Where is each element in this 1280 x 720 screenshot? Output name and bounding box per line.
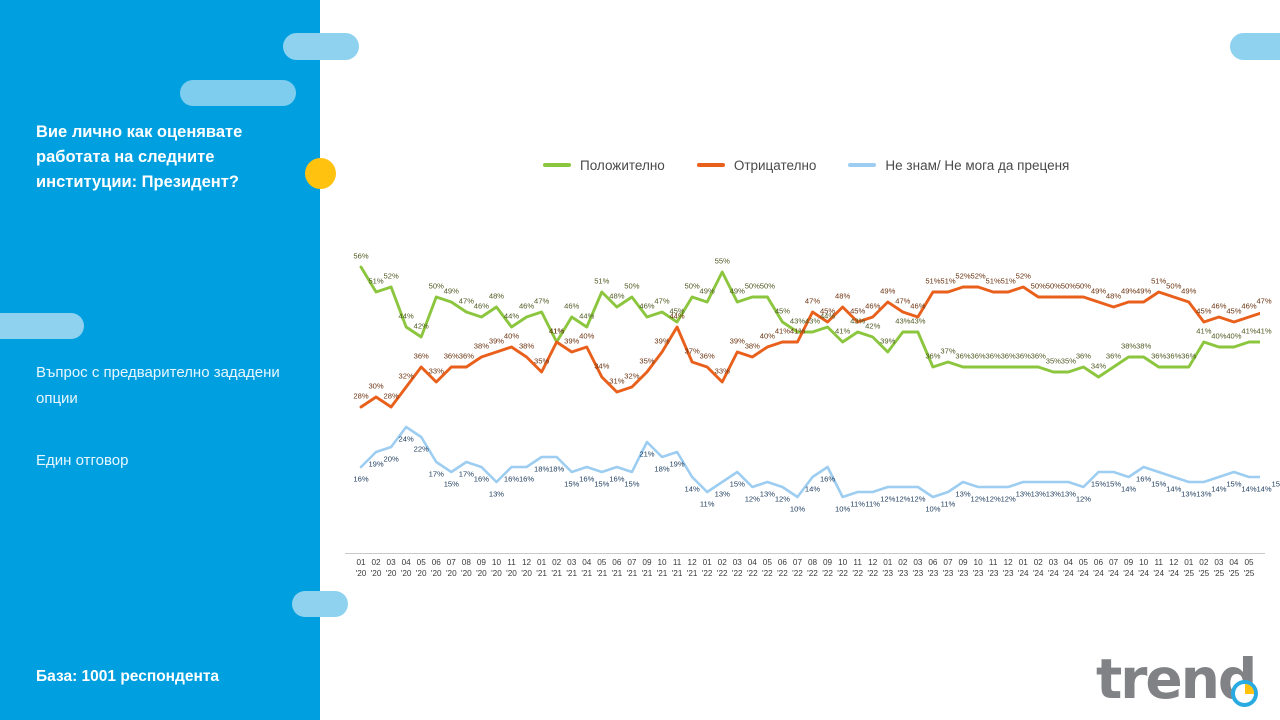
data-point-label: 21% bbox=[639, 450, 654, 459]
x-tick-label: 01'25 bbox=[1181, 557, 1197, 579]
data-point-label: 38% bbox=[745, 342, 760, 351]
legend-swatch-icon bbox=[697, 163, 725, 167]
x-tick-label: 07'21 bbox=[624, 557, 640, 579]
data-point-label: 50% bbox=[624, 282, 639, 291]
data-point-label: 18% bbox=[534, 465, 549, 474]
data-point-label: 51% bbox=[940, 277, 955, 286]
data-point-label: 44% bbox=[504, 312, 519, 321]
data-point-label: 10% bbox=[925, 505, 940, 514]
data-point-label: 36% bbox=[925, 352, 940, 361]
decorative-pill-right bbox=[1230, 33, 1280, 60]
data-point-label: 39% bbox=[880, 337, 895, 346]
x-tick-label: 02'25 bbox=[1196, 557, 1212, 579]
data-point-label: 38% bbox=[474, 342, 489, 351]
data-point-label: 36% bbox=[1001, 352, 1016, 361]
data-point-label: 12% bbox=[775, 495, 790, 504]
x-tick-label: 05'24 bbox=[1075, 557, 1091, 579]
data-point-label: 49% bbox=[444, 287, 459, 296]
data-point-label: 38% bbox=[519, 342, 534, 351]
data-point-label: 48% bbox=[489, 292, 504, 301]
data-point-label: 51% bbox=[594, 277, 609, 286]
data-point-label: 41% bbox=[1256, 327, 1271, 336]
data-point-label: 15% bbox=[624, 480, 639, 489]
data-point-label: 15% bbox=[1271, 480, 1280, 489]
data-point-label: 15% bbox=[1151, 480, 1166, 489]
data-point-label: 36% bbox=[414, 352, 429, 361]
data-point-label: 50% bbox=[760, 282, 775, 291]
data-point-label: 45% bbox=[850, 307, 865, 316]
data-point-label: 19% bbox=[669, 460, 684, 469]
x-tick-label: 05'25 bbox=[1241, 557, 1257, 579]
data-point-label: 49% bbox=[730, 287, 745, 296]
x-tick-label: 05'22 bbox=[759, 557, 775, 579]
data-point-label: 15% bbox=[594, 480, 609, 489]
data-point-label: 40% bbox=[760, 332, 775, 341]
data-point-label: 36% bbox=[1151, 352, 1166, 361]
x-tick-label: 10'21 bbox=[654, 557, 670, 579]
data-point-label: 31% bbox=[609, 377, 624, 386]
data-point-label: 40% bbox=[1211, 332, 1226, 341]
data-point-label: 39% bbox=[730, 337, 745, 346]
x-tick-label: 07'24 bbox=[1106, 557, 1122, 579]
x-tick-label: 12'23 bbox=[1000, 557, 1016, 579]
data-point-label: 38% bbox=[1121, 342, 1136, 351]
question-type-note: Въпрос с предварително зададени опции bbox=[36, 360, 304, 412]
data-point-label: 47% bbox=[805, 297, 820, 306]
legend-item-3[interactable]: Не знам/ Не мога да преценя bbox=[848, 158, 1069, 173]
x-tick-label: 01'24 bbox=[1015, 557, 1031, 579]
data-point-label: 44% bbox=[579, 312, 594, 321]
x-tick-label: 06'22 bbox=[774, 557, 790, 579]
data-point-label: 40% bbox=[504, 332, 519, 341]
x-tick-label: 04'21 bbox=[579, 557, 595, 579]
data-point-label: 36% bbox=[1181, 352, 1196, 361]
x-tick-label: 03'23 bbox=[910, 557, 926, 579]
data-point-label: 46% bbox=[564, 302, 579, 311]
data-point-label: 13% bbox=[1061, 490, 1076, 499]
data-point-label: 13% bbox=[1181, 490, 1196, 499]
decorative-dot-icon bbox=[305, 158, 336, 189]
data-point-label: 34% bbox=[1091, 362, 1106, 371]
data-point-label: 10% bbox=[790, 505, 805, 514]
data-point-label: 37% bbox=[940, 347, 955, 356]
data-point-label: 11% bbox=[941, 500, 956, 509]
data-point-label: 41% bbox=[775, 327, 790, 336]
data-point-label: 52% bbox=[955, 272, 970, 281]
legend-swatch-icon bbox=[543, 163, 571, 167]
data-point-label: 28% bbox=[353, 392, 368, 401]
trend-logo: trend bbox=[1096, 650, 1266, 712]
data-point-label: 20% bbox=[383, 455, 398, 464]
x-tick-label: 09'21 bbox=[639, 557, 655, 579]
data-point-label: 34% bbox=[594, 362, 609, 371]
data-point-label: 12% bbox=[1076, 495, 1091, 504]
data-point-label: 17% bbox=[429, 470, 444, 479]
data-point-label: 40% bbox=[579, 332, 594, 341]
data-point-label: 46% bbox=[910, 302, 925, 311]
x-tick-label: 12'22 bbox=[865, 557, 881, 579]
data-point-label: 44% bbox=[399, 312, 414, 321]
decorative-pill-outer bbox=[283, 33, 359, 60]
data-point-label: 36% bbox=[700, 352, 715, 361]
x-tick-label: 09'22 bbox=[820, 557, 836, 579]
x-tick-label: 02'20 bbox=[368, 557, 384, 579]
data-point-label: 19% bbox=[368, 460, 383, 469]
legend-label: Положително bbox=[580, 158, 665, 173]
data-point-label: 12% bbox=[910, 495, 925, 504]
data-point-label: 51% bbox=[925, 277, 940, 286]
data-point-label: 46% bbox=[865, 302, 880, 311]
data-point-label: 36% bbox=[1166, 352, 1181, 361]
answer-type-note: Един отговор bbox=[36, 448, 304, 474]
data-point-label: 14% bbox=[1256, 485, 1271, 494]
data-point-label: 45% bbox=[1196, 307, 1211, 316]
x-tick-label: 07'23 bbox=[940, 557, 956, 579]
chart-legend: ПоложителноОтрицателноНе знам/ Не мога д… bbox=[543, 155, 1101, 175]
x-tick-label: 06'21 bbox=[609, 557, 625, 579]
data-point-label: 16% bbox=[353, 475, 368, 484]
data-point-label: 48% bbox=[1106, 292, 1121, 301]
data-point-label: 35% bbox=[1046, 357, 1061, 366]
data-point-label: 14% bbox=[1211, 485, 1226, 494]
data-point-label: 51% bbox=[986, 277, 1001, 286]
data-point-label: 39% bbox=[489, 337, 504, 346]
legend-label: Не знам/ Не мога да преценя bbox=[885, 158, 1069, 173]
data-point-label: 16% bbox=[474, 475, 489, 484]
data-point-label: 36% bbox=[955, 352, 970, 361]
x-tick-label: 10'20 bbox=[488, 557, 504, 579]
chart-svg bbox=[345, 200, 1260, 555]
data-point-label: 15% bbox=[1106, 480, 1121, 489]
data-point-label: 18% bbox=[549, 465, 564, 474]
data-point-label: 49% bbox=[1091, 287, 1106, 296]
data-point-label: 46% bbox=[1211, 302, 1226, 311]
x-tick-label: 11'22 bbox=[850, 557, 866, 579]
data-point-label: 16% bbox=[820, 475, 835, 484]
data-point-label: 50% bbox=[685, 282, 700, 291]
x-tick-label: 11'21 bbox=[669, 557, 685, 579]
data-point-label: 36% bbox=[1016, 352, 1031, 361]
data-point-label: 24% bbox=[399, 435, 414, 444]
data-point-label: 12% bbox=[880, 495, 895, 504]
data-point-label: 11% bbox=[700, 500, 715, 509]
data-point-label: 43% bbox=[805, 317, 820, 326]
data-point-label: 41% bbox=[835, 327, 850, 336]
data-point-label: 52% bbox=[970, 272, 985, 281]
x-tick-label: 08'22 bbox=[805, 557, 821, 579]
data-point-label: 16% bbox=[609, 475, 624, 484]
x-tick-label: 04'24 bbox=[1060, 557, 1076, 579]
data-point-label: 41% bbox=[1196, 327, 1211, 336]
data-point-label: 40% bbox=[1226, 332, 1241, 341]
x-tick-label: 02'24 bbox=[1030, 557, 1046, 579]
data-point-label: 46% bbox=[639, 302, 654, 311]
data-point-label: 44% bbox=[669, 312, 684, 321]
data-point-label: 36% bbox=[1106, 352, 1121, 361]
data-point-label: 13% bbox=[1016, 490, 1031, 499]
x-tick-label: 05'21 bbox=[594, 557, 610, 579]
x-tick-label: 03'21 bbox=[564, 557, 580, 579]
data-point-label: 56% bbox=[353, 252, 368, 261]
data-point-label: 50% bbox=[745, 282, 760, 291]
x-tick-label: 10'24 bbox=[1136, 557, 1152, 579]
data-point-label: 46% bbox=[519, 302, 534, 311]
x-tick-label: 08'20 bbox=[458, 557, 474, 579]
data-point-label: 42% bbox=[865, 322, 880, 331]
data-point-label: 51% bbox=[1001, 277, 1016, 286]
x-tick-label: 11'24 bbox=[1151, 557, 1167, 579]
data-point-label: 11% bbox=[865, 500, 880, 509]
data-point-label: 35% bbox=[534, 357, 549, 366]
data-point-label: 36% bbox=[970, 352, 985, 361]
x-tick-label: 01'23 bbox=[880, 557, 896, 579]
decorative-pill-bottom bbox=[292, 591, 348, 617]
data-point-label: 11% bbox=[850, 500, 865, 509]
data-point-label: 47% bbox=[534, 297, 549, 306]
data-point-label: 52% bbox=[1016, 272, 1031, 281]
data-point-label: 13% bbox=[1196, 490, 1211, 499]
data-point-label: 48% bbox=[609, 292, 624, 301]
data-point-label: 14% bbox=[1166, 485, 1181, 494]
x-tick-label: 11'20 bbox=[504, 557, 520, 579]
data-point-label: 15% bbox=[564, 480, 579, 489]
data-point-label: 46% bbox=[1241, 302, 1256, 311]
data-point-label: 14% bbox=[1121, 485, 1136, 494]
data-point-label: 43% bbox=[910, 317, 925, 326]
legend-item-2[interactable]: Отрицателно bbox=[697, 158, 817, 173]
data-point-label: 43% bbox=[790, 317, 805, 326]
data-point-label: 37% bbox=[685, 347, 700, 356]
data-point-label: 18% bbox=[654, 465, 669, 474]
data-point-label: 35% bbox=[1061, 357, 1076, 366]
x-tick-label: 07'20 bbox=[443, 557, 459, 579]
data-point-label: 51% bbox=[1151, 277, 1166, 286]
x-tick-label: 06'24 bbox=[1090, 557, 1106, 579]
data-point-label: 32% bbox=[624, 372, 639, 381]
data-point-label: 55% bbox=[715, 257, 730, 266]
data-point-label: 28% bbox=[383, 392, 398, 401]
x-tick-label: 07'22 bbox=[789, 557, 805, 579]
x-tick-label: 12'20 bbox=[519, 557, 535, 579]
data-point-label: 41% bbox=[1241, 327, 1256, 336]
data-point-label: 49% bbox=[700, 287, 715, 296]
x-tick-label: 06'20 bbox=[428, 557, 444, 579]
x-tick-label: 03'25 bbox=[1211, 557, 1227, 579]
data-point-label: 36% bbox=[444, 352, 459, 361]
data-point-label: 49% bbox=[1121, 287, 1136, 296]
data-point-label: 12% bbox=[986, 495, 1001, 504]
x-tick-label: 03'22 bbox=[729, 557, 745, 579]
x-tick-label: 04'22 bbox=[744, 557, 760, 579]
decorative-pill-top bbox=[180, 80, 296, 106]
x-axis-line bbox=[345, 553, 1265, 554]
data-point-label: 45% bbox=[775, 307, 790, 316]
x-tick-label: 05'20 bbox=[413, 557, 429, 579]
data-point-label: 50% bbox=[1076, 282, 1091, 291]
data-point-label: 47% bbox=[1256, 297, 1271, 306]
data-point-label: 12% bbox=[1001, 495, 1016, 504]
data-point-label: 15% bbox=[444, 480, 459, 489]
x-axis-tick-labels: 01'2002'2003'2004'2005'2006'2007'2008'20… bbox=[345, 557, 1265, 583]
data-point-label: 49% bbox=[880, 287, 895, 296]
decorative-pill-left bbox=[0, 313, 84, 339]
data-point-label: 13% bbox=[760, 490, 775, 499]
data-point-label: 35% bbox=[639, 357, 654, 366]
data-point-label: 33% bbox=[429, 367, 444, 376]
data-point-label: 51% bbox=[368, 277, 383, 286]
data-point-label: 22% bbox=[414, 445, 429, 454]
x-tick-label: 02'22 bbox=[714, 557, 730, 579]
data-point-label: 43% bbox=[895, 317, 910, 326]
data-point-label: 50% bbox=[1046, 282, 1061, 291]
data-point-label: 16% bbox=[1136, 475, 1151, 484]
data-point-label: 50% bbox=[1031, 282, 1046, 291]
data-point-label: 12% bbox=[970, 495, 985, 504]
data-point-label: 41% bbox=[549, 327, 564, 336]
data-point-label: 10% bbox=[835, 505, 850, 514]
data-point-label: 12% bbox=[745, 495, 760, 504]
data-point-label: 50% bbox=[429, 282, 444, 291]
x-tick-label: 12'24 bbox=[1166, 557, 1182, 579]
x-tick-label: 09'24 bbox=[1121, 557, 1137, 579]
data-point-label: 33% bbox=[715, 367, 730, 376]
data-point-label: 47% bbox=[895, 297, 910, 306]
data-point-label: 46% bbox=[474, 302, 489, 311]
data-point-label: 32% bbox=[399, 372, 414, 381]
data-point-label: 30% bbox=[368, 382, 383, 391]
data-point-label: 16% bbox=[579, 475, 594, 484]
data-point-label: 38% bbox=[1136, 342, 1151, 351]
data-point-label: 14% bbox=[685, 485, 700, 494]
data-point-label: 41% bbox=[790, 327, 805, 336]
data-point-label: 15% bbox=[730, 480, 745, 489]
x-tick-label: 03'24 bbox=[1045, 557, 1061, 579]
x-tick-label: 01'20 bbox=[353, 557, 369, 579]
data-point-label: 15% bbox=[1226, 480, 1241, 489]
data-point-label: 13% bbox=[1031, 490, 1046, 499]
data-point-label: 16% bbox=[519, 475, 534, 484]
x-tick-label: 11'23 bbox=[985, 557, 1001, 579]
data-point-label: 45% bbox=[820, 307, 835, 316]
data-point-label: 47% bbox=[459, 297, 474, 306]
x-tick-label: 04'25 bbox=[1226, 557, 1242, 579]
data-point-label: 13% bbox=[1046, 490, 1061, 499]
x-tick-label: 09'20 bbox=[473, 557, 489, 579]
x-tick-label: 03'20 bbox=[383, 557, 399, 579]
data-point-label: 36% bbox=[986, 352, 1001, 361]
x-tick-label: 02'21 bbox=[549, 557, 565, 579]
data-point-label: 52% bbox=[383, 272, 398, 281]
data-point-label: 45% bbox=[1226, 307, 1241, 316]
x-tick-label: 01'22 bbox=[699, 557, 715, 579]
data-point-label: 14% bbox=[1241, 485, 1256, 494]
data-point-label: 42% bbox=[414, 322, 429, 331]
data-point-label: 39% bbox=[654, 337, 669, 346]
x-tick-label: 10'22 bbox=[835, 557, 851, 579]
data-point-label: 43% bbox=[850, 317, 865, 326]
x-tick-label: 12'21 bbox=[684, 557, 700, 579]
x-tick-label: 10'23 bbox=[970, 557, 986, 579]
line-chart: 56%51%52%44%42%50%49%47%46%48%44%46%47%4… bbox=[345, 200, 1260, 555]
data-point-label: 13% bbox=[715, 490, 730, 499]
data-point-label: 36% bbox=[1031, 352, 1046, 361]
data-point-label: 50% bbox=[1166, 282, 1181, 291]
x-tick-label: 04'20 bbox=[398, 557, 414, 579]
data-point-label: 36% bbox=[459, 352, 474, 361]
data-point-label: 39% bbox=[564, 337, 579, 346]
data-point-label: 17% bbox=[459, 470, 474, 479]
legend-item-1[interactable]: Положително bbox=[543, 158, 665, 173]
data-point-label: 49% bbox=[1136, 287, 1151, 296]
page-title: Вие лично как оценявате работата на след… bbox=[36, 120, 304, 195]
data-point-label: 13% bbox=[955, 490, 970, 499]
data-point-label: 16% bbox=[504, 475, 519, 484]
legend-label: Отрицателно bbox=[734, 158, 817, 173]
data-point-label: 48% bbox=[835, 292, 850, 301]
x-tick-label: 09'23 bbox=[955, 557, 971, 579]
data-point-label: 15% bbox=[1091, 480, 1106, 489]
x-tick-label: 02'23 bbox=[895, 557, 911, 579]
x-tick-label: 01'21 bbox=[534, 557, 550, 579]
data-point-label: 13% bbox=[489, 490, 504, 499]
legend-swatch-icon bbox=[848, 163, 876, 167]
data-point-label: 47% bbox=[654, 297, 669, 306]
data-point-label: 12% bbox=[895, 495, 910, 504]
data-point-label: 14% bbox=[805, 485, 820, 494]
data-point-label: 50% bbox=[1061, 282, 1076, 291]
base-respondents-label: База: 1001 респондента bbox=[36, 668, 219, 686]
data-point-label: 49% bbox=[1181, 287, 1196, 296]
data-point-label: 36% bbox=[1076, 352, 1091, 361]
x-tick-label: 06'23 bbox=[925, 557, 941, 579]
